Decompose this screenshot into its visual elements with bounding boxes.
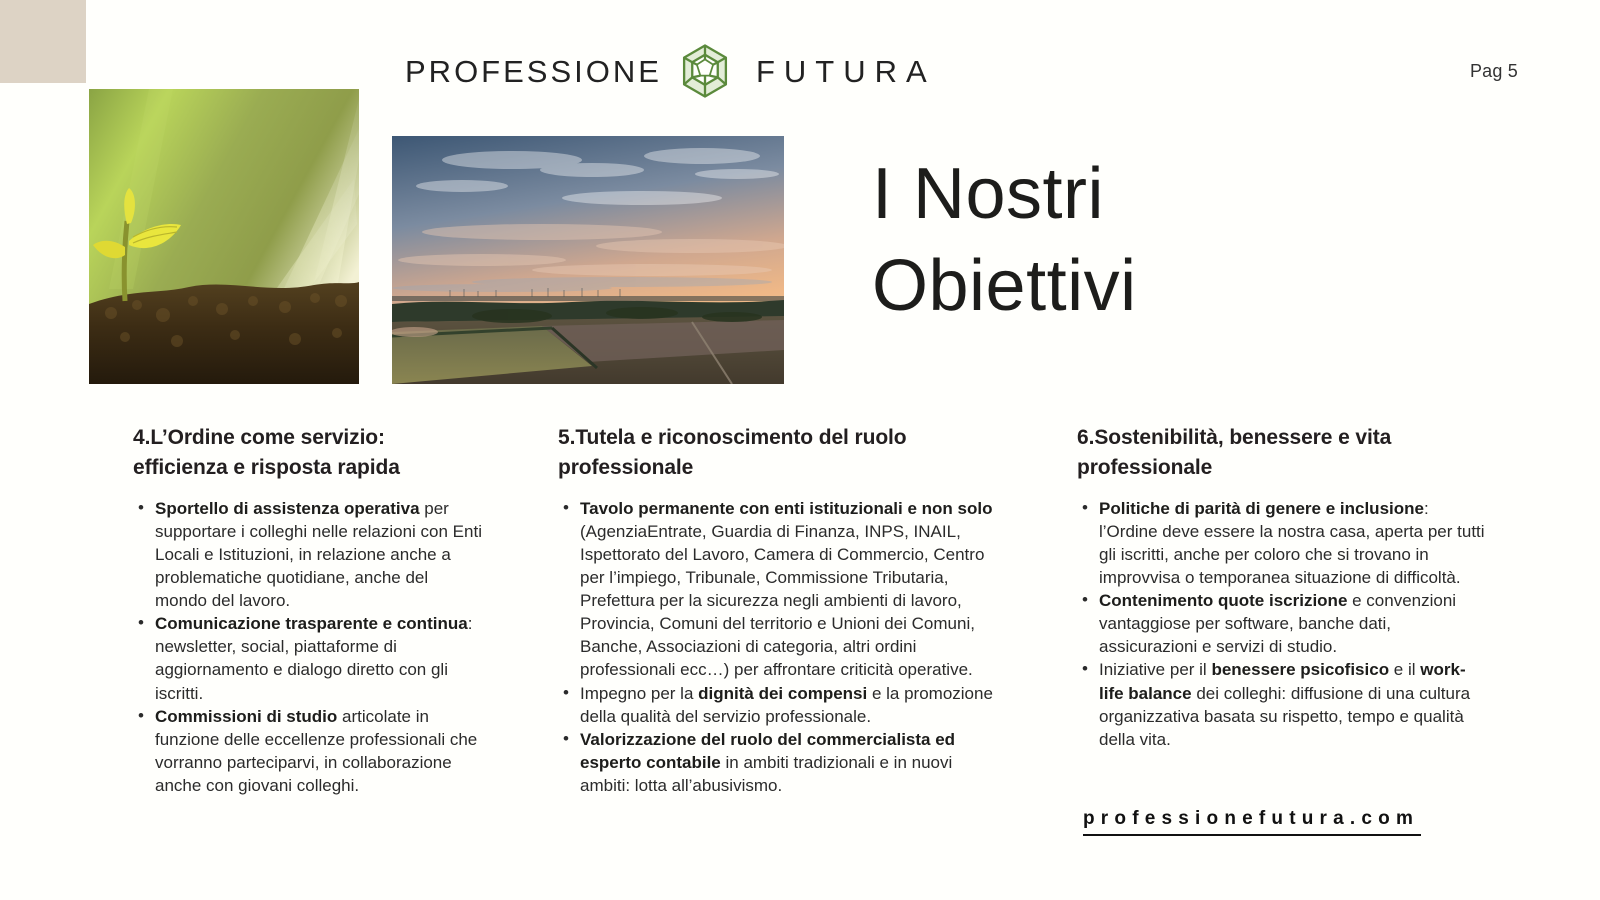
slide: PROFESSIONE FUTURA Pag 5 [0,0,1600,900]
page-title-line-1: I Nostri [872,148,1392,240]
column-5-heading: 5.Tutela e riconoscimento del ruolo prof… [558,423,998,483]
green-polyhedron-icon [676,42,734,100]
column-4-bullet-list: Sportello di assistenza operativa per su… [133,497,483,797]
column-5-bullet-list: Tavolo permanente con enti istituzionali… [558,497,998,797]
sunset-fields-photo [392,136,784,384]
list-item: Iniziative per il benessere psicofisico … [1099,658,1489,750]
brand-logo: PROFESSIONE FUTURA [405,43,936,99]
emphasis-text: Commissioni di studio [155,707,337,726]
emphasis-text: Tavolo permanente con enti istituzionali… [580,499,992,518]
list-item: Politiche di parità di genere e inclusio… [1099,497,1489,589]
column-6-heading: 6.Sostenibilità, benessere e vita profes… [1077,423,1489,483]
list-item: Commissioni di studio articolate in funz… [155,705,483,797]
emphasis-text: Contenimento quote iscrizione [1099,591,1347,610]
column-6-bullet-list: Politiche di parità di genere e inclusio… [1077,497,1489,751]
page-title-line-2: Obiettivi [872,240,1392,332]
column-6: 6.Sostenibilità, benessere e vita profes… [1077,423,1489,751]
list-item: Tavolo permanente con enti istituzionali… [580,497,998,682]
column-4-heading: 4.L’Ordine come servizio: efficienza e r… [133,423,483,483]
column-4: 4.L’Ordine come servizio: efficienza e r… [133,423,483,797]
list-item: Impegno per la dignità dei compensi e la… [580,682,998,728]
list-item: Sportello di assistenza operativa per su… [155,497,483,613]
list-item: Valorizzazione del ruolo del commerciali… [580,728,998,797]
content-columns: 4.L’Ordine come servizio: efficienza e r… [0,423,1600,843]
website-link[interactable]: professionefutura.com [1083,808,1421,836]
list-item: Comunicazione trasparente e continua: ne… [155,612,483,704]
emphasis-text: Sportello di assistenza operativa [155,499,420,518]
body-text: e il [1389,660,1420,679]
decorative-corner-block [0,0,86,83]
emphasis-text: benessere psicofisico [1211,660,1389,679]
body-text: Iniziative per il [1099,660,1211,679]
body-text: (AgenziaEntrate, Guardia di Finanza, INP… [580,522,984,680]
brand-word-right: FUTURA [756,56,936,87]
list-item: Contenimento quote iscrizione e convenzi… [1099,589,1489,658]
page-title: I Nostri Obiettivi [872,148,1392,332]
emphasis-text: dignità dei compensi [698,684,867,703]
column-5: 5.Tutela e riconoscimento del ruolo prof… [558,423,998,797]
seedling-photo [89,89,359,384]
brand-word-left: PROFESSIONE [405,56,662,87]
emphasis-text: Politiche di parità di genere e inclusio… [1099,499,1424,518]
emphasis-text: Comunicazione trasparente e continua [155,614,468,633]
page-number: Pag 5 [1470,61,1518,82]
body-text: Impegno per la [580,684,698,703]
